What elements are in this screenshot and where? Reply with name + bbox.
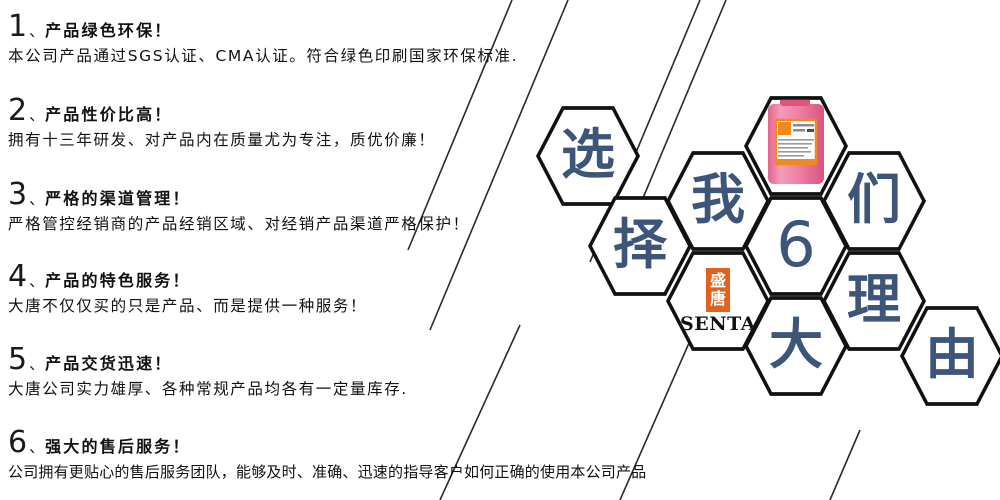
feature-body-1: 本公司产品通过SGS认证、CMA认证。符合绿色印刷国家环保标准. [8, 47, 518, 66]
feature-title-6: 强大的售后服务！ [45, 439, 191, 455]
feature-body-6: 公司拥有更贴心的售后服务团队，能够及时、准确、迅速的指导客户如何正确的使用本公司… [8, 463, 646, 481]
hex-inner-you: 由 [904, 308, 1000, 404]
feature-item-1: 1 、 产品绿色环保！ 本公司产品通过SGS认证、CMA认证。符合绿色印刷国家环… [8, 12, 518, 66]
feature-number-5: 5 [8, 345, 27, 375]
feature-heading-6: 6 、 强大的售后服务！ [8, 428, 646, 458]
feature-list: 1 、 产品绿色环保！ 本公司产品通过SGS认证、CMA认证。符合绿色印刷国家环… [8, 0, 668, 500]
hex-label-you: 由 [925, 328, 979, 382]
hex-label-wo: 我 [691, 173, 745, 227]
feature-item-2: 2 、 产品性价比高！ 拥有十三年研发、对产品内在质量尤为专注，质优价廉！ [8, 96, 436, 150]
feature-number-6: 6 [8, 428, 27, 458]
feature-number-4: 4 [8, 262, 27, 292]
hex-label-li: 理 [847, 273, 901, 327]
seal-icon: 盛 唐 [706, 268, 730, 312]
feature-item-4: 4 、 产品的特色服务！ 大唐不仅仅买的只是产品、而是提供一种服务！ [8, 262, 367, 316]
feature-item-6: 6 、 强大的售后服务！ 公司拥有更贴心的售后服务团队，能够及时、准确、迅速的指… [8, 428, 646, 481]
feature-title-1: 产品绿色环保！ [45, 23, 172, 39]
jerrycan-icon [762, 98, 830, 194]
feature-separator-1: 、 [29, 24, 44, 39]
feature-title-2: 产品性价比高！ [45, 107, 172, 123]
feature-title-3: 严格的渠道管理！ [45, 191, 191, 207]
hex-inner-six: 6 [748, 198, 844, 294]
seal-char-top: 盛 [710, 273, 726, 289]
logo-wordmark: SENTA [680, 315, 756, 334]
feature-separator-2: 、 [29, 108, 44, 123]
feature-separator-6: 、 [29, 440, 44, 455]
feature-body-2: 拥有十三年研发、对产品内在质量尤为专注，质优价廉！ [8, 131, 436, 150]
feature-number-3: 3 [8, 180, 27, 210]
hex-label-six: 6 [776, 214, 815, 276]
feature-heading-3: 3 、 严格的渠道管理！ [8, 180, 470, 210]
feature-heading-4: 4 、 产品的特色服务！ [8, 262, 367, 292]
promo-banner: 选 择 我 [0, 0, 1000, 500]
hex-label-men: 们 [847, 173, 901, 227]
feature-heading-1: 1 、 产品绿色环保！ [8, 12, 518, 42]
feature-title-4: 产品的特色服务！ [45, 273, 191, 289]
feature-body-5: 大唐公司实力雄厚、各种常规产品均各有一定量库存. [8, 380, 408, 399]
feature-item-5: 5 、 产品交货迅速！ 大唐公司实力雄厚、各种常规产品均各有一定量库存. [8, 345, 408, 399]
feature-number-1: 1 [8, 12, 27, 42]
product-photo [748, 98, 844, 194]
feature-separator-3: 、 [29, 192, 44, 207]
hex-label-da: 大 [769, 318, 823, 372]
seal-char-bottom: 唐 [710, 291, 726, 307]
feature-heading-5: 5 、 产品交货迅速！ [8, 345, 408, 375]
hex-inner-li: 理 [826, 253, 922, 349]
feature-separator-5: 、 [29, 357, 44, 372]
feature-heading-2: 2 、 产品性价比高！ [8, 96, 436, 126]
feature-separator-4: 、 [29, 274, 44, 289]
feature-item-3: 3 、 严格的渠道管理！ 严格管控经销商的产品经销区域、对经销产品渠道严格保护！ [8, 180, 470, 234]
feature-body-3: 严格管控经销商的产品经销区域、对经销产品渠道严格保护！ [8, 215, 470, 234]
feature-title-5: 产品交货迅速！ [45, 356, 172, 372]
feature-number-2: 2 [8, 96, 27, 126]
feature-body-4: 大唐不仅仅买的只是产品、而是提供一种服务！ [8, 297, 367, 316]
